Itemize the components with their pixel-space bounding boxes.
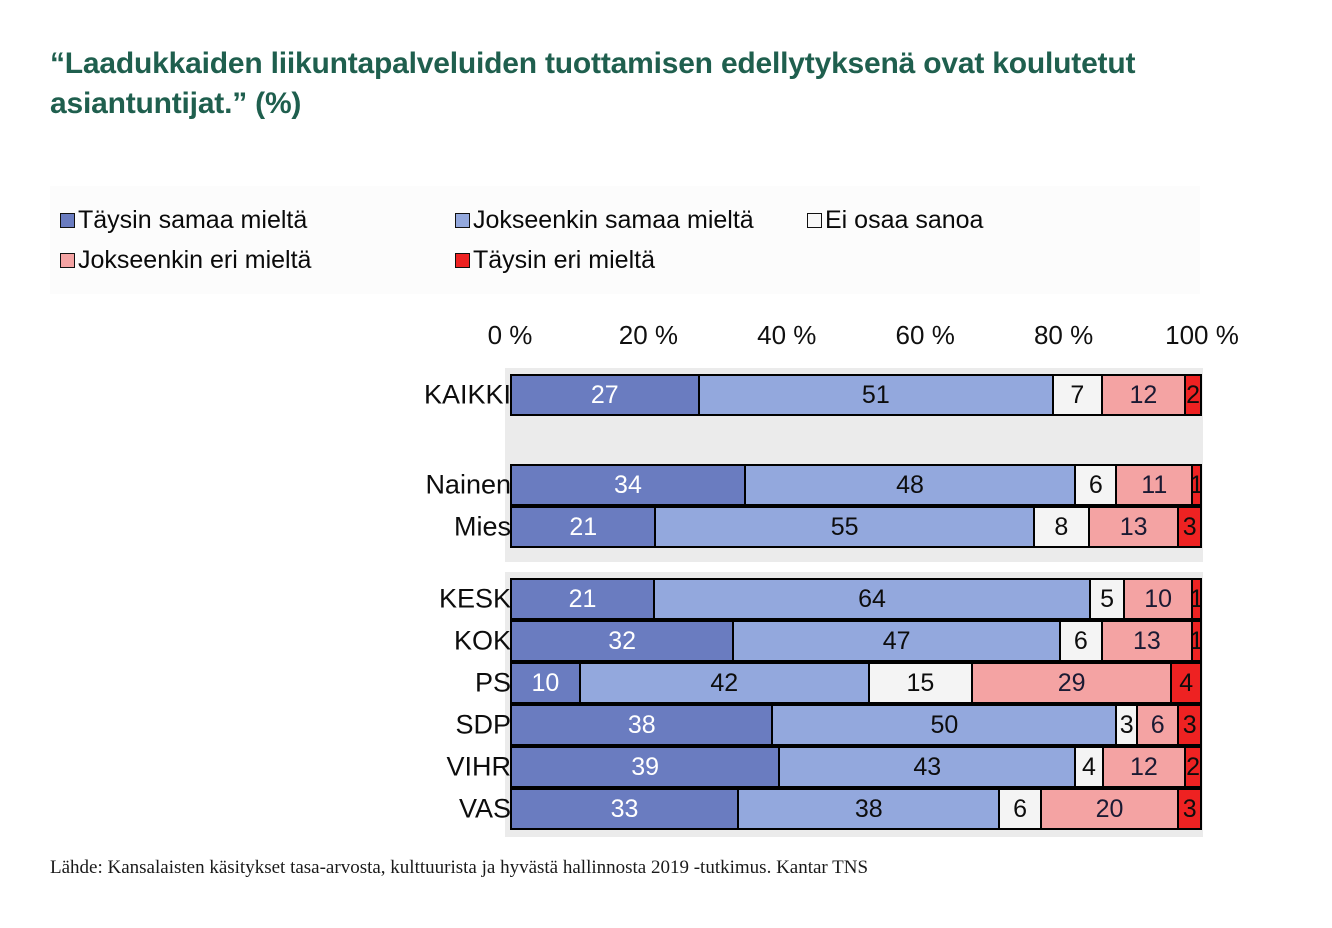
bar-segment-value: 1: [1193, 587, 1200, 612]
legend-item-taysin-samaa-mielta[interactable]: Täysin samaa mieltä: [60, 208, 455, 233]
bar-segment-value: 1: [1193, 629, 1200, 654]
bar-segment-value: 6: [1151, 713, 1165, 738]
stacked-bar[interactable]: 39434122: [510, 746, 1202, 788]
bar-segment-value: 3: [1120, 713, 1134, 738]
row-label: KESK: [439, 584, 511, 615]
x-tick-label: 60 %: [896, 320, 955, 351]
bar-segment-value: 33: [611, 797, 639, 822]
bar-segment-value: 21: [569, 587, 597, 612]
bar-segment[interactable]: 3: [1117, 706, 1138, 744]
bar-segment[interactable]: 4: [1172, 664, 1200, 702]
bar-segment-value: 42: [710, 671, 738, 696]
bar-segment[interactable]: 1: [1193, 622, 1200, 660]
bar-segment-value: 10: [531, 671, 559, 696]
bar-segment[interactable]: 2: [1186, 376, 1200, 414]
bar-segment-value: 38: [855, 797, 883, 822]
bar-segment-value: 7: [1070, 383, 1084, 408]
bar-segment[interactable]: 8: [1035, 508, 1090, 546]
legend-item-label: Jokseenkin samaa mieltä: [473, 208, 754, 233]
bar-segment-value: 21: [569, 515, 597, 540]
bar-segment[interactable]: 3: [1179, 706, 1200, 744]
bar-segment-value: 11: [1141, 473, 1167, 498]
bar-segment[interactable]: 50: [773, 706, 1117, 744]
bar-segment[interactable]: 39: [512, 748, 780, 786]
chart-row: VIHR39434122: [388, 746, 1213, 788]
stacked-bar[interactable]: 21645101: [510, 578, 1202, 620]
bar-segment[interactable]: 33: [512, 790, 739, 828]
row-label: KAIKKI: [424, 380, 511, 411]
bar-segment-value: 43: [913, 755, 941, 780]
bar-segment-value: 32: [608, 629, 636, 654]
legend-item-label: Täysin samaa mieltä: [78, 208, 307, 233]
bar-segment[interactable]: 43: [780, 748, 1076, 786]
bar-segment[interactable]: 2: [1186, 748, 1200, 786]
bar-segment-value: 27: [591, 383, 619, 408]
page-title: “Laadukkaiden liikuntapalveluiden tuotta…: [50, 44, 1280, 124]
source-note: Lähde: Kansalaisten käsitykset tasa-arvo…: [50, 857, 868, 879]
chart-row: KAIKKI27517122: [388, 374, 1213, 416]
bar-segment[interactable]: 6: [1061, 622, 1103, 660]
bar-segment-value: 4: [1179, 671, 1193, 696]
x-tick-label: 40 %: [757, 320, 816, 351]
bar-segment-value: 8: [1054, 515, 1068, 540]
bar-segment[interactable]: 6: [1076, 466, 1117, 504]
bar-segment[interactable]: 29: [973, 664, 1173, 702]
bar-segment[interactable]: 11: [1117, 466, 1193, 504]
stacked-bar[interactable]: 32476131: [510, 620, 1202, 662]
x-tick-label: 20 %: [619, 320, 678, 351]
bar-segment[interactable]: 32: [512, 622, 734, 660]
bar-segment-value: 51: [862, 383, 890, 408]
bar-segment[interactable]: 20: [1042, 790, 1180, 828]
legend-swatch-icon: [60, 253, 75, 268]
bar-segment-value: 3: [1183, 797, 1197, 822]
bar-segment[interactable]: 51: [700, 376, 1054, 414]
row-label: Mies: [454, 512, 511, 543]
bar-segment-value: 29: [1058, 671, 1086, 696]
bar-segment[interactable]: 21: [512, 508, 656, 546]
bar-segment-value: 55: [831, 515, 859, 540]
legend-row-2: Jokseenkin eri mieltä Täysin eri mieltä: [60, 240, 1200, 280]
legend-swatch-icon: [455, 213, 470, 228]
chart-row: VAS33386203: [388, 788, 1213, 830]
legend-item-label: Ei osaa sanoa: [825, 208, 983, 233]
legend-swatch-icon: [60, 213, 75, 228]
row-label: SDP: [455, 710, 511, 741]
row-label: VIHR: [446, 752, 511, 783]
bar-segment[interactable]: 1: [1193, 580, 1200, 618]
chart-row: KESK21645101: [388, 578, 1213, 620]
bar-segment-value: 50: [931, 713, 959, 738]
stacked-bar[interactable]: 34486111: [510, 464, 1202, 506]
bar-segment-value: 3: [1183, 713, 1197, 738]
legend-item-label: Jokseenkin eri mieltä: [78, 248, 311, 273]
bar-segment[interactable]: 38: [512, 706, 773, 744]
x-tick-label: 0 %: [488, 320, 533, 351]
chart-row: SDP3850363: [388, 704, 1213, 746]
stacked-bar[interactable]: 27517122: [510, 374, 1202, 416]
legend-item-jokseenkin-eri-mielta[interactable]: Jokseenkin eri mieltä: [60, 248, 455, 273]
bar-segment[interactable]: 13: [1090, 508, 1179, 546]
bar-segment[interactable]: 5: [1091, 580, 1125, 618]
row-label: PS: [475, 668, 511, 699]
bar-segment[interactable]: 1: [1193, 466, 1200, 504]
bar-segment-value: 1: [1193, 473, 1200, 498]
bar-segment-value: 64: [858, 587, 886, 612]
legend-row-1: Täysin samaa mieltä Jokseenkin samaa mie…: [60, 200, 1200, 240]
bar-segment[interactable]: 6: [1138, 706, 1179, 744]
bar-segment[interactable]: 47: [734, 622, 1061, 660]
stacked-bar[interactable]: 3850363: [510, 704, 1202, 746]
row-label: VAS: [459, 794, 511, 825]
stacked-bar[interactable]: 104215294: [510, 662, 1202, 704]
bar-segment-value: 20: [1096, 797, 1124, 822]
legend-item-ei-osaa-sanoa[interactable]: Ei osaa sanoa: [807, 208, 983, 233]
bar-segment[interactable]: 55: [656, 508, 1034, 546]
chart-row: PS104215294: [388, 662, 1213, 704]
legend-item-label: Täysin eri mieltä: [473, 248, 655, 273]
bar-segment-value: 4: [1082, 755, 1096, 780]
bar-segment-value: 13: [1133, 629, 1161, 654]
bar-segment[interactable]: 4: [1076, 748, 1104, 786]
bar-segment-value: 15: [906, 671, 934, 696]
bar-segment-value: 6: [1013, 797, 1027, 822]
legend-swatch-icon: [807, 213, 822, 228]
bar-segment[interactable]: 3: [1179, 790, 1200, 828]
bar-segment[interactable]: 6: [1000, 790, 1041, 828]
bar-segment[interactable]: 12: [1104, 748, 1187, 786]
stacked-bar[interactable]: 21558133: [510, 506, 1202, 548]
bar-segment[interactable]: 10: [1125, 580, 1193, 618]
stacked-bar-chart: 0 %20 %40 %60 %80 %100 % KAIKKI27517122N…: [388, 306, 1213, 841]
bar-segment-value: 48: [896, 473, 924, 498]
bar-segment-value: 38: [628, 713, 656, 738]
bar-segment[interactable]: 42: [581, 664, 870, 702]
bar-segment-value: 34: [614, 473, 642, 498]
x-tick-label: 80 %: [1034, 320, 1093, 351]
bar-segment-value: 12: [1129, 383, 1157, 408]
chart-row: KOK32476131: [388, 620, 1213, 662]
bar-segment[interactable]: 27: [512, 376, 700, 414]
bar-segment-value: 47: [883, 629, 911, 654]
bar-segment[interactable]: 64: [655, 580, 1091, 618]
chart-row: Nainen34486111: [388, 464, 1213, 506]
chart-row: Mies21558133: [388, 506, 1213, 548]
bar-segment-value: 39: [631, 755, 659, 780]
bar-segment[interactable]: 12: [1103, 376, 1186, 414]
bar-segment-value: 6: [1089, 473, 1103, 498]
row-label: Nainen: [425, 470, 511, 501]
stacked-bar[interactable]: 33386203: [510, 788, 1202, 830]
legend-swatch-icon: [455, 253, 470, 268]
bar-segment-value: 5: [1100, 587, 1114, 612]
bar-segment-value: 13: [1120, 515, 1148, 540]
bar-segment[interactable]: 13: [1103, 622, 1193, 660]
bar-segment-value: 6: [1074, 629, 1088, 654]
bar-segment[interactable]: 15: [870, 664, 973, 702]
bar-segment[interactable]: 10: [512, 664, 581, 702]
bar-segment-value: 3: [1183, 515, 1197, 540]
bar-segment[interactable]: 34: [512, 466, 746, 504]
bar-segment-value: 12: [1130, 755, 1158, 780]
chart-legend: Täysin samaa mieltä Jokseenkin samaa mie…: [50, 186, 1200, 294]
legend-item-jokseenkin-samaa-mielta[interactable]: Jokseenkin samaa mieltä: [455, 208, 807, 233]
bar-segment[interactable]: 21: [512, 580, 655, 618]
x-tick-label: 100 %: [1165, 320, 1239, 351]
x-axis-tick-labels: 0 %20 %40 %60 %80 %100 %: [388, 320, 1213, 358]
bar-segment[interactable]: 7: [1054, 376, 1103, 414]
bar-segment-value: 2: [1186, 755, 1200, 780]
bar-segment[interactable]: 48: [746, 466, 1076, 504]
legend-item-taysin-eri-mielta[interactable]: Täysin eri mieltä: [455, 248, 807, 273]
bar-segment[interactable]: 3: [1179, 508, 1200, 546]
bar-segment[interactable]: 38: [739, 790, 1000, 828]
bar-segment-value: 2: [1186, 383, 1200, 408]
row-label: KOK: [454, 626, 511, 657]
bar-segment-value: 10: [1144, 587, 1172, 612]
